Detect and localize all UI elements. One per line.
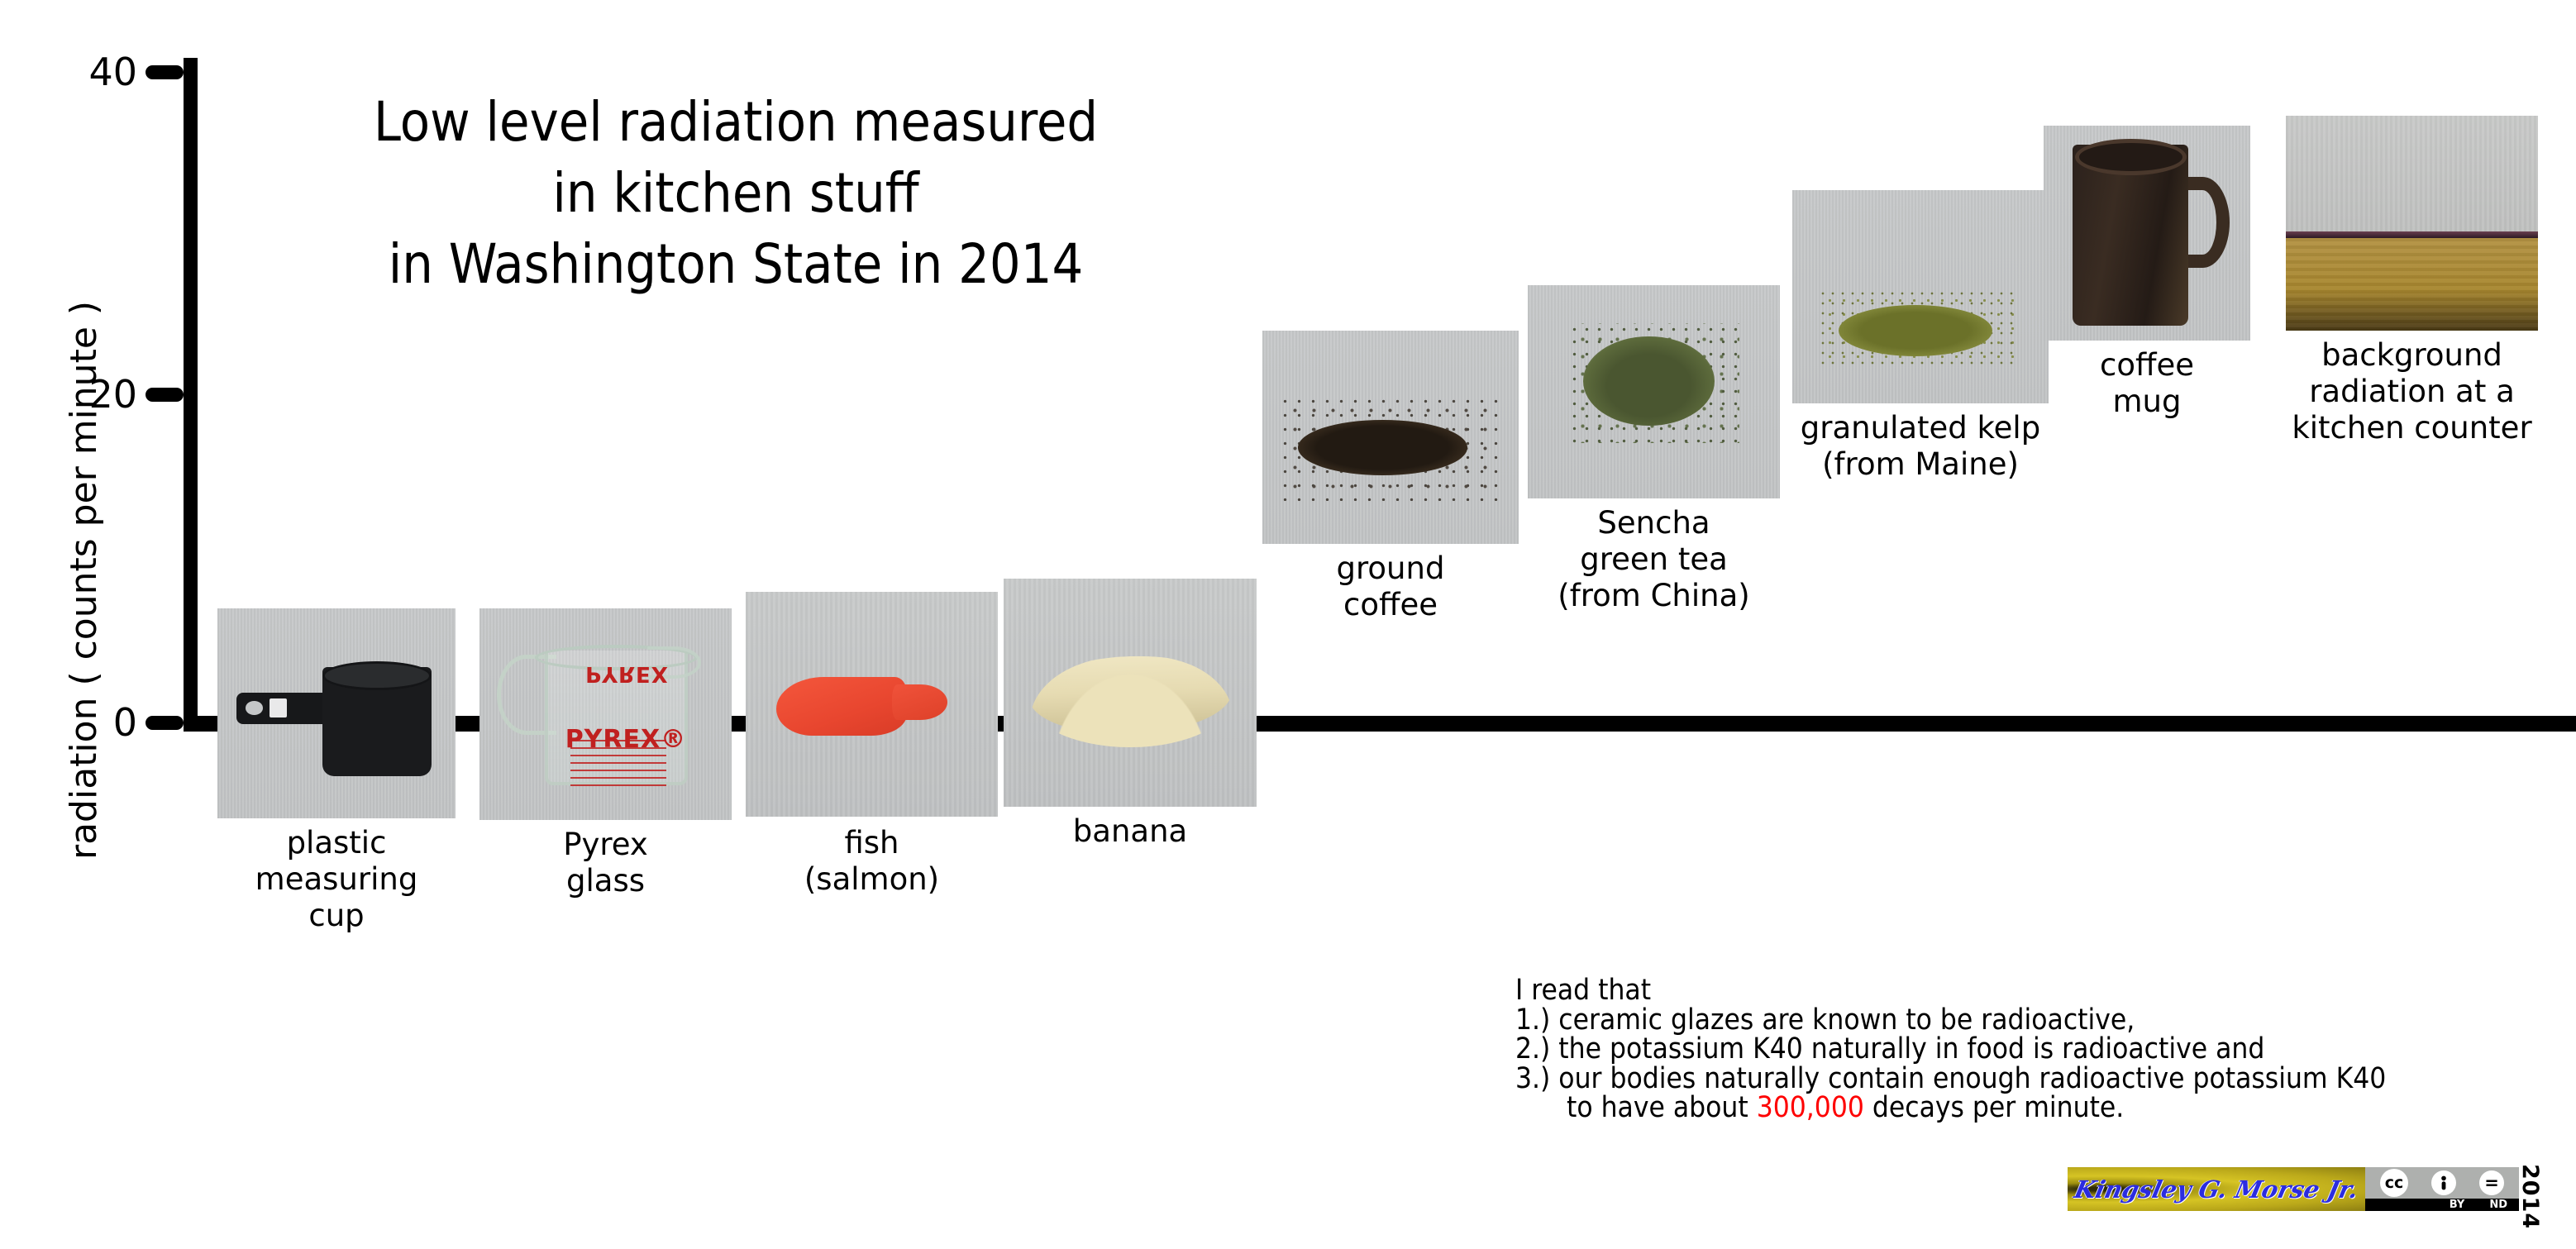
credit-badge[interactable]: Kingsley G. Morse Jr. cc = BY ND (2068, 1167, 2551, 1211)
cc-icon-row: cc = (2365, 1167, 2519, 1199)
data-point-granulated-kelp[interactable]: granulated kelp (from Maine) (1792, 190, 2049, 403)
counter-edge-shape (2286, 231, 2538, 238)
annotation-line-2: 2.) the potassium K40 naturally in food … (1515, 1035, 2386, 1065)
pyrex-glass-photo: PYREX PYREX® (479, 608, 732, 820)
data-point-sencha-green-tea[interactable]: Sencha green tea (from China) (1528, 285, 1780, 498)
ground-coffee-photo (1262, 331, 1519, 544)
annotation-highlight-value: 300,000 (1757, 1091, 1864, 1124)
y-tick-40 (145, 65, 184, 79)
cup-rim-shape (322, 661, 432, 691)
chart-title-line-2: in kitchen stuff (273, 158, 1199, 229)
item-label-ground-coffee: ground coffee (1267, 551, 1515, 623)
salmon-fillet-shape (776, 677, 908, 736)
cc-nd-label: ND (2489, 1199, 2507, 1211)
person-glyph (2435, 1174, 2453, 1192)
item-label-fish-salmon: fish (salmon) (748, 825, 996, 898)
data-point-fish-salmon[interactable]: fish (salmon) (746, 592, 998, 817)
annotation-block: I read that 1.) ceramic glazes are known… (1515, 976, 2386, 1123)
y-tick-20 (145, 388, 184, 402)
pyrex-brand-top-text: PYREX (585, 661, 669, 686)
item-label-granulated-kelp: granulated kelp (from Maine) (1784, 410, 2057, 483)
kelp-pile-shape (1839, 305, 1992, 356)
chart-title: Low level radiation measured in kitchen … (273, 87, 1199, 300)
salmon-tail-shape (892, 684, 947, 721)
item-label-coffee-mug: coffee mug (2039, 347, 2254, 420)
salmon-photo (746, 592, 998, 817)
y-axis-title: radiation ( counts per minute ) (63, 301, 105, 860)
mug-opening-shape (2075, 139, 2187, 175)
pyrex-brand-text: PYREX® (565, 725, 686, 754)
banana-highlight-shape (1023, 638, 1236, 747)
creative-commons-license-icon[interactable]: cc = BY ND (2365, 1167, 2519, 1211)
cc-by-label: BY (2450, 1199, 2465, 1211)
item-label-pyrex-glass: Pyrex glass (482, 827, 730, 899)
copyright-year: 2014 (2517, 1164, 2543, 1229)
annotation-line-4-before: to have about (1567, 1091, 1757, 1124)
data-point-pyrex-glass[interactable]: PYREX PYREX® Pyrex glass (479, 608, 732, 820)
cc-nd-equals-icon: = (2479, 1170, 2504, 1195)
annotation-line-4-after: decays per minute. (1864, 1091, 2124, 1124)
measuring-cup-photo (217, 608, 456, 818)
cc-label-row: BY ND (2365, 1199, 2519, 1211)
item-label-banana: banana (1006, 813, 1254, 850)
banana-photo (1004, 579, 1257, 807)
item-label-background-radiation: background radiation at a kitchen counte… (2280, 337, 2545, 446)
item-label-plastic-measuring-cup: plastic measuring cup (212, 825, 460, 934)
counter-wood-trim-shape (2286, 238, 2538, 331)
annotation-line-1: 1.) ceramic glazes are known to be radio… (1515, 1006, 2386, 1036)
green-tea-photo (1528, 285, 1780, 498)
data-point-ground-coffee[interactable]: ground coffee (1262, 331, 1519, 544)
cc-logo-icon: cc (2380, 1169, 2408, 1197)
tea-pile-shape (1583, 336, 1715, 426)
data-point-coffee-mug[interactable]: coffee mug (2044, 126, 2250, 341)
author-signature: Kingsley G. Morse Jr. (2068, 1167, 2365, 1211)
y-tick-0 (145, 716, 184, 730)
cc-by-person-icon (2431, 1170, 2456, 1195)
coffee-mug-photo (2044, 126, 2250, 341)
annotation-line-0: I read that (1515, 976, 2386, 1006)
annotation-line-4: to have about 300,000 decays per minute. (1515, 1094, 2386, 1123)
data-point-plastic-measuring-cup[interactable]: plastic measuring cup (217, 608, 456, 818)
y-tick-label-40: 40 (38, 53, 137, 91)
coffee-pile-shape (1298, 420, 1467, 475)
cup-tag-shape (270, 698, 286, 717)
counter-surface-shape (2286, 116, 2538, 236)
kitchen-counter-photo (2286, 116, 2538, 331)
item-label-sencha-green-tea: Sencha green tea (from China) (1526, 505, 1782, 614)
kelp-photo (1792, 190, 2049, 403)
annotation-line-3: 3.) our bodies naturally contain enough … (1515, 1065, 2386, 1094)
data-point-background-radiation[interactable]: background radiation at a kitchen counte… (2286, 116, 2538, 331)
y-axis-line (184, 58, 198, 729)
data-point-banana[interactable]: banana (1004, 579, 1257, 807)
chart-title-line-1: Low level radiation measured (273, 87, 1199, 158)
author-signature-text: Kingsley G. Morse Jr. (2072, 1175, 2361, 1204)
chart-canvas: 40 20 0 radiation ( counts per minute ) … (0, 0, 2576, 1249)
chart-title-line-3: in Washington State in 2014 (273, 229, 1199, 300)
